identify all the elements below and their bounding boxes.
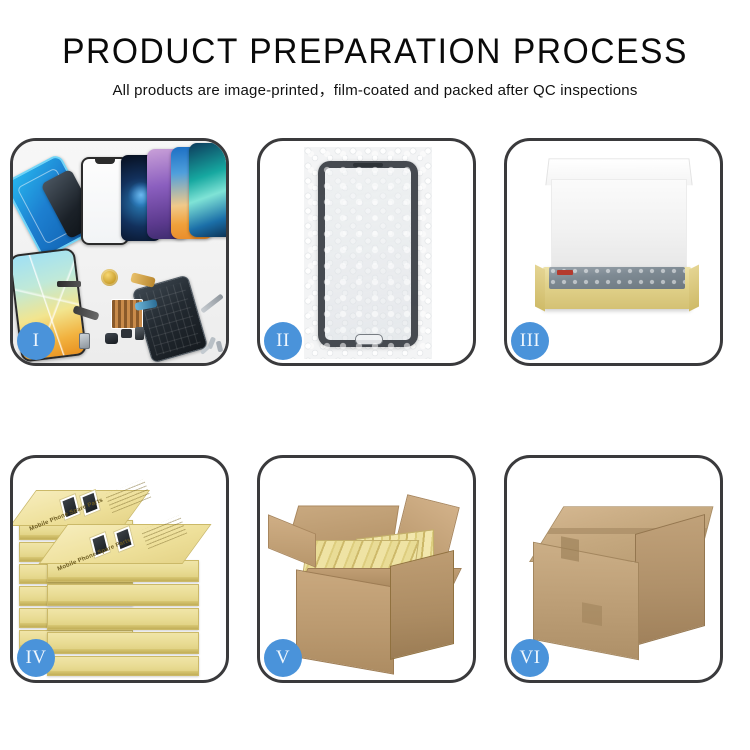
process-step-grid: I II III — [10, 138, 740, 683]
step-badge-1: I — [17, 322, 55, 360]
box-edge — [48, 577, 198, 581]
stacked-box — [47, 632, 199, 654]
coil-part-icon — [101, 269, 118, 286]
step-panel-6: VI — [504, 455, 723, 683]
carton-front-face-icon — [533, 542, 639, 661]
carton-corner-tab-icon — [561, 536, 579, 561]
speaker-part-icon — [57, 281, 81, 287]
sim-tray-icon — [79, 333, 90, 349]
bubble-wrap-overlay-icon — [304, 147, 432, 359]
stacked-box — [47, 608, 199, 630]
step-panel-5: V — [257, 455, 476, 683]
product-preparation-process-page: PRODUCT PREPARATION PROCESS All products… — [0, 0, 750, 750]
box-edge — [48, 671, 198, 675]
camera-module-icon — [105, 333, 118, 344]
box-edge — [48, 649, 198, 653]
red-label-icon — [557, 270, 573, 275]
step-panel-2: II — [257, 138, 476, 366]
step-badge-5: V — [264, 639, 302, 677]
circuit-grid-icon — [139, 282, 201, 356]
page-header: PRODUCT PREPARATION PROCESS All products… — [0, 0, 750, 98]
carton-side-face-icon — [635, 514, 705, 646]
step-badge-2: II — [264, 322, 302, 360]
connector-part-icon — [121, 329, 132, 338]
stacked-box — [47, 656, 199, 676]
step-badge-4: IV — [17, 639, 55, 677]
carton-front-face-icon — [296, 569, 394, 674]
page-title: PRODUCT PREPARATION PROCESS — [15, 0, 735, 69]
box-stack: Mobile Phone Spare Parts Mobile Phone Sp… — [19, 472, 225, 672]
wrapped-part-icon — [549, 267, 685, 289]
step-panel-1: I — [10, 138, 229, 366]
battery-part-icon — [135, 327, 144, 340]
step-badge-6: VI — [511, 639, 549, 677]
page-subtitle: All products are image-printed，film-coat… — [0, 69, 750, 98]
stacked-box — [47, 584, 199, 606]
carton-tab-icon — [582, 602, 602, 626]
box-interior-icon — [551, 179, 687, 275]
step-panel-3: III — [504, 138, 723, 366]
step-badge-3: III — [511, 322, 549, 360]
box-edge — [48, 625, 198, 629]
box-edge — [48, 601, 198, 605]
teal-phone-icon — [189, 143, 226, 237]
step-panel-4: Mobile Phone Spare Parts Mobile Phone Sp… — [10, 455, 229, 683]
carton-side-face-icon — [390, 550, 454, 660]
